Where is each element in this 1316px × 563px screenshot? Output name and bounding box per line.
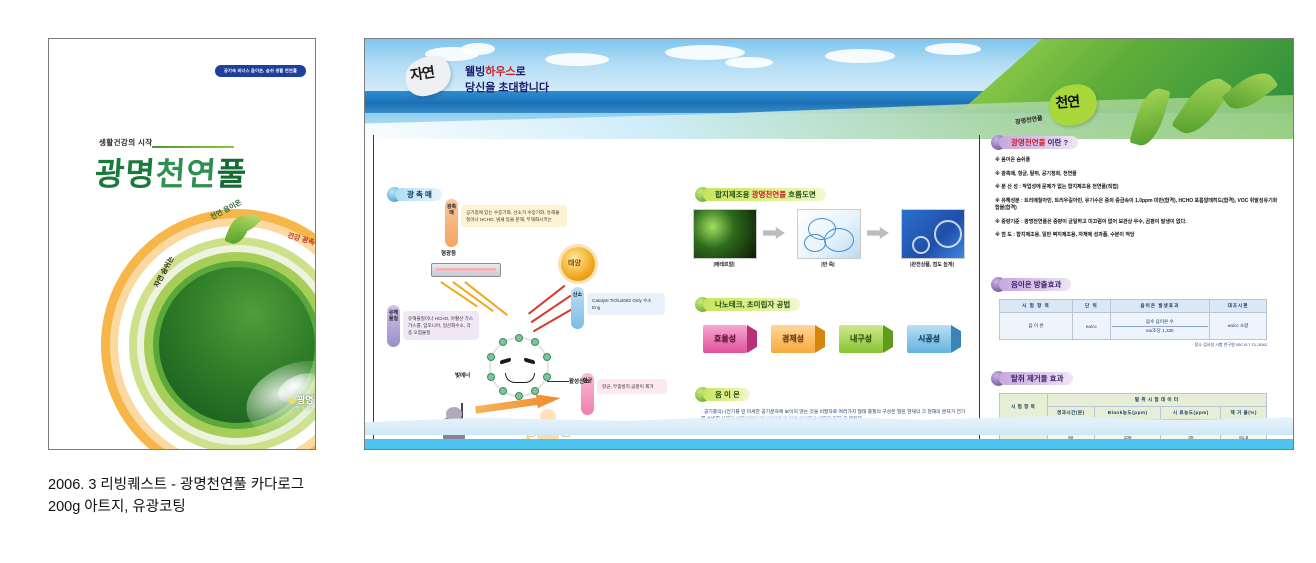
nano-tab-side xyxy=(815,325,825,353)
cell-nub-icon xyxy=(515,392,523,400)
nano-tab-efficiency[interactable]: 효율성 xyxy=(703,325,757,353)
sun-label: 태양 xyxy=(568,258,581,268)
table-cell-fraction: 음수 음이온 수 ea/초당 1,330 xyxy=(1110,313,1210,340)
flow-arrow-icon xyxy=(763,227,785,239)
table-header-cell: 시 험 항 목 xyxy=(1000,300,1073,313)
ray-icon xyxy=(531,295,572,323)
badge-natural-label: 천연 xyxy=(1055,91,1080,113)
table-header-cell: 시 험 항 목 xyxy=(1000,394,1048,420)
table-header-row: 시 험 항 목 탈 취 시 험 데 이 터 xyxy=(1000,394,1267,407)
nano-tab-label: 내구성 xyxy=(839,325,883,353)
cell-nub-icon xyxy=(543,373,551,381)
nano-tab-side xyxy=(747,325,757,353)
flow-arrow-icon xyxy=(867,227,889,239)
intro-bullet: 광촉매, 항균, 탈취, 공기정화, 천연풀 xyxy=(995,171,1281,179)
cell-nub-icon xyxy=(515,334,523,342)
cell-nub-icon xyxy=(487,353,495,361)
intro-bullet: 유해성분 : 트리메칠아민, 트리우길아민, 유기수은 중의 중금속이 1.0p… xyxy=(995,198,1281,213)
cell-nub-icon xyxy=(487,373,495,381)
flow-image-1 xyxy=(693,209,757,259)
nano-tab-label: 효율성 xyxy=(703,325,747,353)
nano-tab-side xyxy=(951,325,961,353)
cover-title-char-4: 풀 xyxy=(215,156,248,192)
callout-catalyst: Catalyst TiO\u2082 Only 수소 Eng xyxy=(587,293,665,315)
cover-title-char-3: 연 xyxy=(185,156,218,192)
intro-bullet: 점 도 : 합지제조용, 일반 벽지제조용, 자체에 성과품, 수분이 적당 xyxy=(995,232,1281,240)
anion-table-note: · 장소 검사성 시험 연구원 00C B-7 CL-3042 xyxy=(999,342,1267,348)
spread-spine-left xyxy=(373,135,374,447)
cover-title-char-2: 천 xyxy=(155,156,188,192)
cloud-icon xyxy=(925,43,981,55)
cloud-icon xyxy=(461,43,495,55)
label-active-oxygen: 활성산소 xyxy=(569,377,589,385)
brochure-cover: 공기속 비너스 음이온, 숨쉬 생활 천연풀 생활건강의 시작 광명천연풀 천연… xyxy=(48,38,316,450)
badge-nature-label: 자연 xyxy=(409,62,435,85)
banner-headline-1-post: 로 xyxy=(516,66,526,78)
blob-shape xyxy=(804,234,826,252)
spread-spine-right xyxy=(979,135,980,447)
intro-title-post: 이란 ? xyxy=(1046,138,1069,147)
flow-diagram: |에테르알| |반 죽| |완전상품, 점도 높게| xyxy=(693,209,963,271)
sun-icon: 태양 xyxy=(561,247,595,281)
cover-badge: 공기속 비너스 음이온, 숨쉬 생활 천연풀 xyxy=(215,65,306,77)
intro-bullet-list: 음이온 숨쉬풀 광촉매, 항균, 탈취, 공기정화, 천연풀 분 산 성 : 작… xyxy=(995,157,1281,246)
flow-caption-2: |반 죽| xyxy=(797,261,859,268)
table-cell: 음 이 온 xyxy=(1000,313,1073,340)
cover-title-char-0: 광 xyxy=(94,156,127,192)
table-header-cell: Blank농도(ppm) xyxy=(1095,407,1161,420)
footer-bar xyxy=(365,439,1293,449)
banner-headline-1: 웰빙하우스로 xyxy=(465,63,526,79)
blob-shape xyxy=(824,228,854,252)
table-row: 음 이 온 ea/cc 음수 음이온 수 ea/초당 1,330 ea/cc 소… xyxy=(1000,313,1267,340)
intro-bullet: 분 산 성 : 작업성에 문제가 없는 합지제조용 천연풀(직접) xyxy=(995,184,1281,192)
caption-line-1: 2006. 3 리빙퀘스트 - 광명천연풀 카다로그 xyxy=(48,474,304,496)
lamp-label: 형광등 xyxy=(441,249,456,257)
flow-title-pre: 합지제조용 xyxy=(715,190,752,199)
cell-eye-icon xyxy=(500,357,511,364)
section-title-deodor-table: 탈취 제거율 효과 xyxy=(999,372,1073,385)
bubble-shape xyxy=(912,236,930,254)
banner-headline-2: 당신을 초대합니다 xyxy=(465,79,549,95)
right-column: 광명천연풀 이란 ? 음이온 숨쉬풀 광촉매, 항균, 탈취, 공기정화, 천연… xyxy=(991,135,1283,447)
intro-bullet: 음이온 숨쉬풀 xyxy=(995,157,1281,165)
spread-inner: 자연 천연 광명천연풀 웰빙하우스로 당신을 초대합니다 광 촉 매 광촉매 xyxy=(365,39,1293,449)
callout-harmful: 유해물질이나 HCHO, 아황산 가스가스를, 암모니아, 일산화수소, 각종 … xyxy=(403,311,479,340)
cell-eye-icon xyxy=(524,357,535,364)
flow-caption-1: |에테르알| xyxy=(693,261,755,268)
nano-tab-label: 시공성 xyxy=(907,325,951,353)
cover-rule xyxy=(152,146,234,148)
table-header-cell: 시 료농도(ppm) xyxy=(1161,407,1221,420)
cover-logo-text: 광명천연풀 xyxy=(297,395,316,405)
vtab-oxygen: 산소 xyxy=(571,287,584,329)
cloud-icon xyxy=(725,57,773,68)
caption-line-2: 200g 아트지, 유광코팅 xyxy=(48,496,304,518)
nano-tab-side xyxy=(883,325,893,353)
nano-tab-workability[interactable]: 시공성 xyxy=(907,325,961,353)
fraction: 음수 음이온 수 ea/초당 1,330 xyxy=(1112,319,1209,334)
fraction-denominator: ea/초당 1,330 xyxy=(1112,327,1209,334)
callout-antibacterial: 항균, 무좀방지 곰팡이 제거 xyxy=(597,379,667,394)
vtab-photocatalyst: 광촉매 xyxy=(445,199,458,247)
table-header-cell: 제 거 율(%) xyxy=(1221,407,1267,420)
screenshot-root: 공기속 비너스 음이온, 숨쉬 생활 천연풀 생활건강의 시작 광명천연풀 천연… xyxy=(0,0,1316,563)
cloud-icon xyxy=(545,53,609,66)
anion-table-wrap: 시 험 항 목 단 위 음이온 발생효과 대조시편 음 이 온 ea/cc 음수… xyxy=(999,299,1267,348)
cell-nub-icon xyxy=(499,387,507,395)
banner-headline-1-highlight: 하우스 xyxy=(485,66,515,78)
photocatalyst-cell-character xyxy=(489,337,549,397)
banner-headline-1-pre: 웰빙 xyxy=(465,66,485,78)
table-cell: ea/cc 소량 xyxy=(1210,313,1267,340)
section-title-anion-table: 음이온 방출효과 xyxy=(999,278,1071,291)
callout-photocatalyst: 공기중에 있는 수증기와, 산소가 수증기와, 유해물질이나 HCHO, 냄새 … xyxy=(461,205,567,227)
table-header-cell: 단 위 xyxy=(1073,300,1110,313)
cover-tagline: 생활건강의 시작 xyxy=(99,137,153,148)
brochure-spread: 자연 천연 광명천연풀 웰빙하우스로 당신을 초대합니다 광 촉 매 광촉매 xyxy=(364,38,1294,450)
section-title-intro: 광명천연풀 이란 ? xyxy=(999,136,1078,149)
cell-nub-icon xyxy=(543,353,551,361)
flow-title-highlight: 광명천연풀 xyxy=(752,190,787,199)
cover-logo: 광명천연풀 - 자연, 숨 쉬다 - xyxy=(289,393,316,411)
fraction-numerator: 음수 음이온 수 xyxy=(1112,319,1209,327)
ray-icon xyxy=(453,281,494,312)
nano-feature-tabs: 효율성 경제성 내구성 시공성 xyxy=(703,325,963,359)
cell-nub-icon xyxy=(531,387,539,395)
logo-dot-icon xyxy=(289,398,295,404)
caption-block: 2006. 3 리빙퀘스트 - 광명천연풀 카다로그 200g 아트지, 유광코… xyxy=(48,474,304,519)
bubble-shape xyxy=(934,220,962,248)
intro-bullet: 중량기준 : 광명천연풀은 중량이 균일하고 미끄럼이 없어 보관상 우수, 곰… xyxy=(995,219,1281,227)
section-title-flow: 합지제조용 광명천연풀 흐름도면 xyxy=(703,188,826,201)
cover-title-char-1: 명 xyxy=(124,156,157,192)
label-light-energy: 빛에너 xyxy=(455,371,470,379)
flow-image-2 xyxy=(797,209,861,259)
nano-tab-durability[interactable]: 내구성 xyxy=(839,325,893,353)
cell-mouth-icon xyxy=(505,373,535,383)
cell-nub-icon xyxy=(531,338,539,346)
leader-line xyxy=(547,381,569,382)
section-title-anion: 음 이 온 xyxy=(703,388,750,401)
nano-tab-economy[interactable]: 경제성 xyxy=(771,325,825,353)
cell-nub-icon xyxy=(499,338,507,346)
cloud-icon xyxy=(825,49,895,63)
table-header-row: 시 험 항 목 단 위 음이온 발생효과 대조시편 xyxy=(1000,300,1267,313)
table-header-cell: 음이온 발생효과 xyxy=(1110,300,1210,313)
flow-caption-3: |완전상품, 점도 높게| xyxy=(889,261,975,268)
flow-image-3 xyxy=(901,209,965,259)
fluorescent-lamp-icon xyxy=(431,263,501,277)
cover-logo-subtext: - 자연, 숨 쉬다 - xyxy=(289,406,316,411)
intro-title-highlight: 광명천연풀 xyxy=(1011,138,1046,147)
table-header-cell: 대조시편 xyxy=(1210,300,1267,313)
table-header-span: 탈 취 시 험 데 이 터 xyxy=(1047,394,1266,407)
table-cell: ea/cc xyxy=(1073,313,1110,340)
cover-title: 광명천연풀 xyxy=(93,149,248,195)
photocatalyst-diagram: 광촉매 공기중에 있는 수증기와, 산소가 수증기와, 유해물질이나 HCHO,… xyxy=(379,185,675,441)
flow-title-post: 흐름도면 xyxy=(786,190,816,199)
nano-tab-label: 경제성 xyxy=(771,325,815,353)
section-title-nano: 나노테크, 초미립자 공법 xyxy=(703,298,800,311)
ray-icon xyxy=(533,307,575,332)
vtab-harmful: 유해물질 xyxy=(387,305,400,347)
cover-rings-graphic: 천연 음이온 건강 광촉매 자연 숨쉬는 광명천연풀 - 자연, 숨 쉬다 - xyxy=(101,209,316,450)
anion-results-table: 시 험 항 목 단 위 음이온 발생효과 대조시편 음 이 온 ea/cc 음수… xyxy=(999,299,1267,340)
